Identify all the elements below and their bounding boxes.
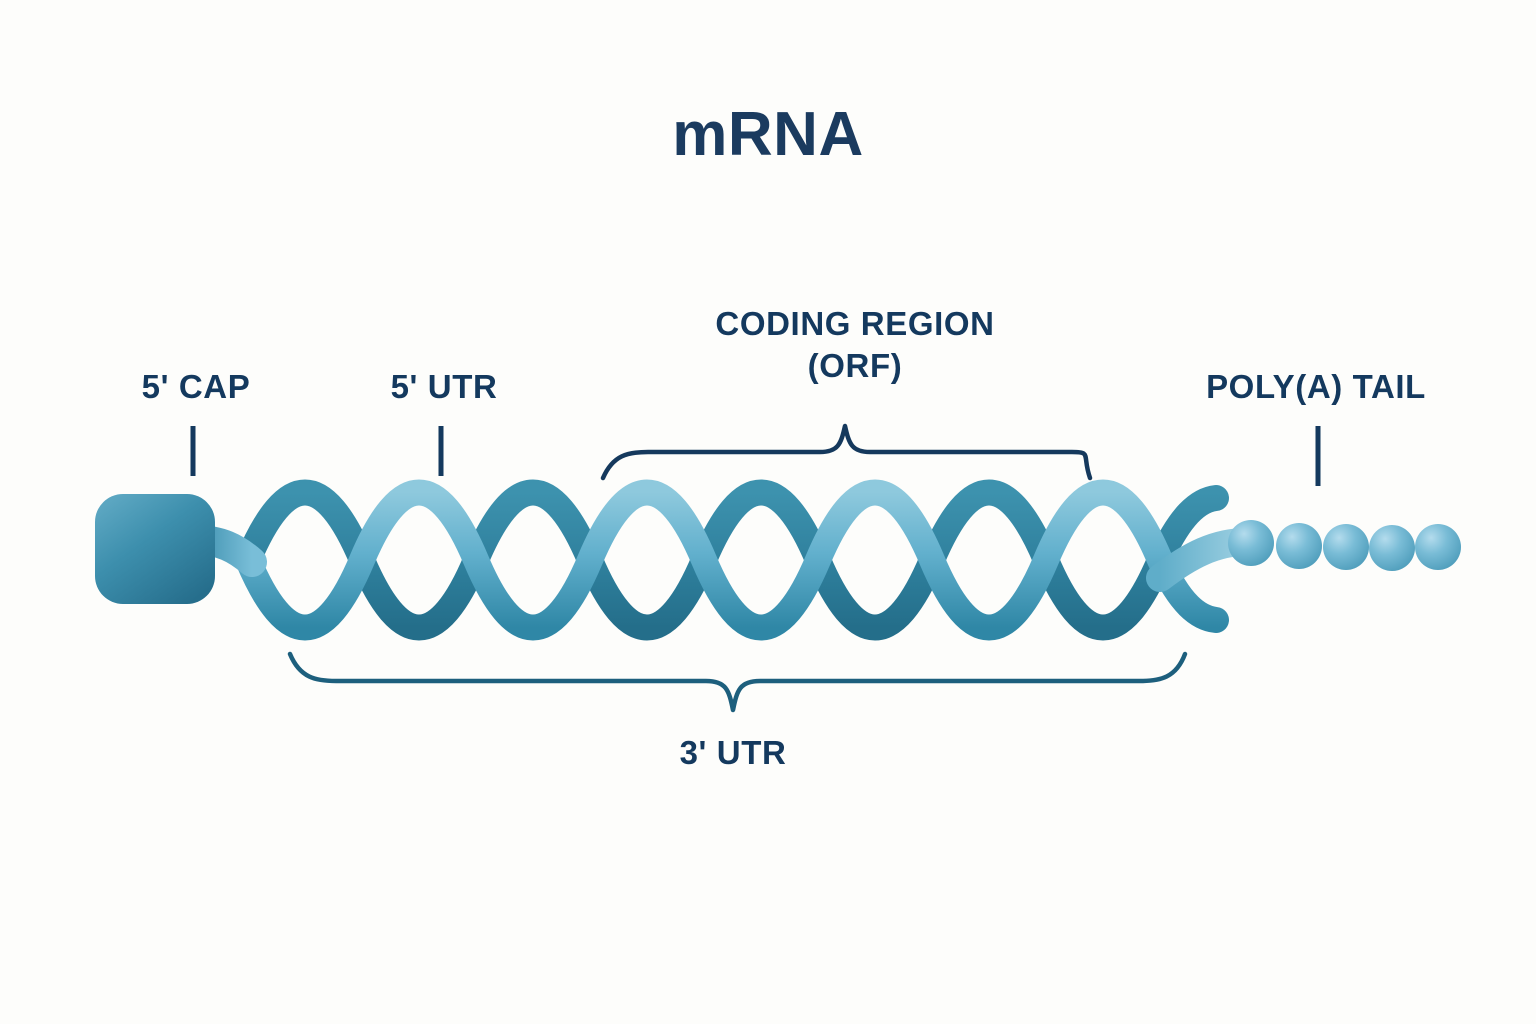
label-coding-region-line1: CODING REGION [715,303,994,345]
polya-bead [1369,525,1415,571]
polya-bead [1276,523,1322,569]
label-five-prime-utr: 5' UTR [391,366,498,408]
leader-lines [193,426,1318,486]
polya-bead [1228,520,1274,566]
polya-bead [1415,524,1461,570]
coding-region-brace [603,426,1090,478]
label-poly-a-tail: POLY(A) TAIL [1206,366,1426,408]
polya-tail-beads [1228,520,1461,571]
label-coding-region: CODING REGION (ORF) [715,303,994,387]
polya-bead [1323,524,1369,570]
utr3-brace [290,654,1185,710]
label-five-prime-cap: 5' CAP [142,366,251,408]
five-prime-cap [95,494,215,604]
label-three-prime-utr: 3' UTR [680,732,787,774]
mrna-illustration [0,0,1536,1024]
mrna-helix [248,492,1216,628]
label-coding-region-line2: (ORF) [715,345,994,387]
mrna-diagram: mRNA [0,0,1536,1024]
